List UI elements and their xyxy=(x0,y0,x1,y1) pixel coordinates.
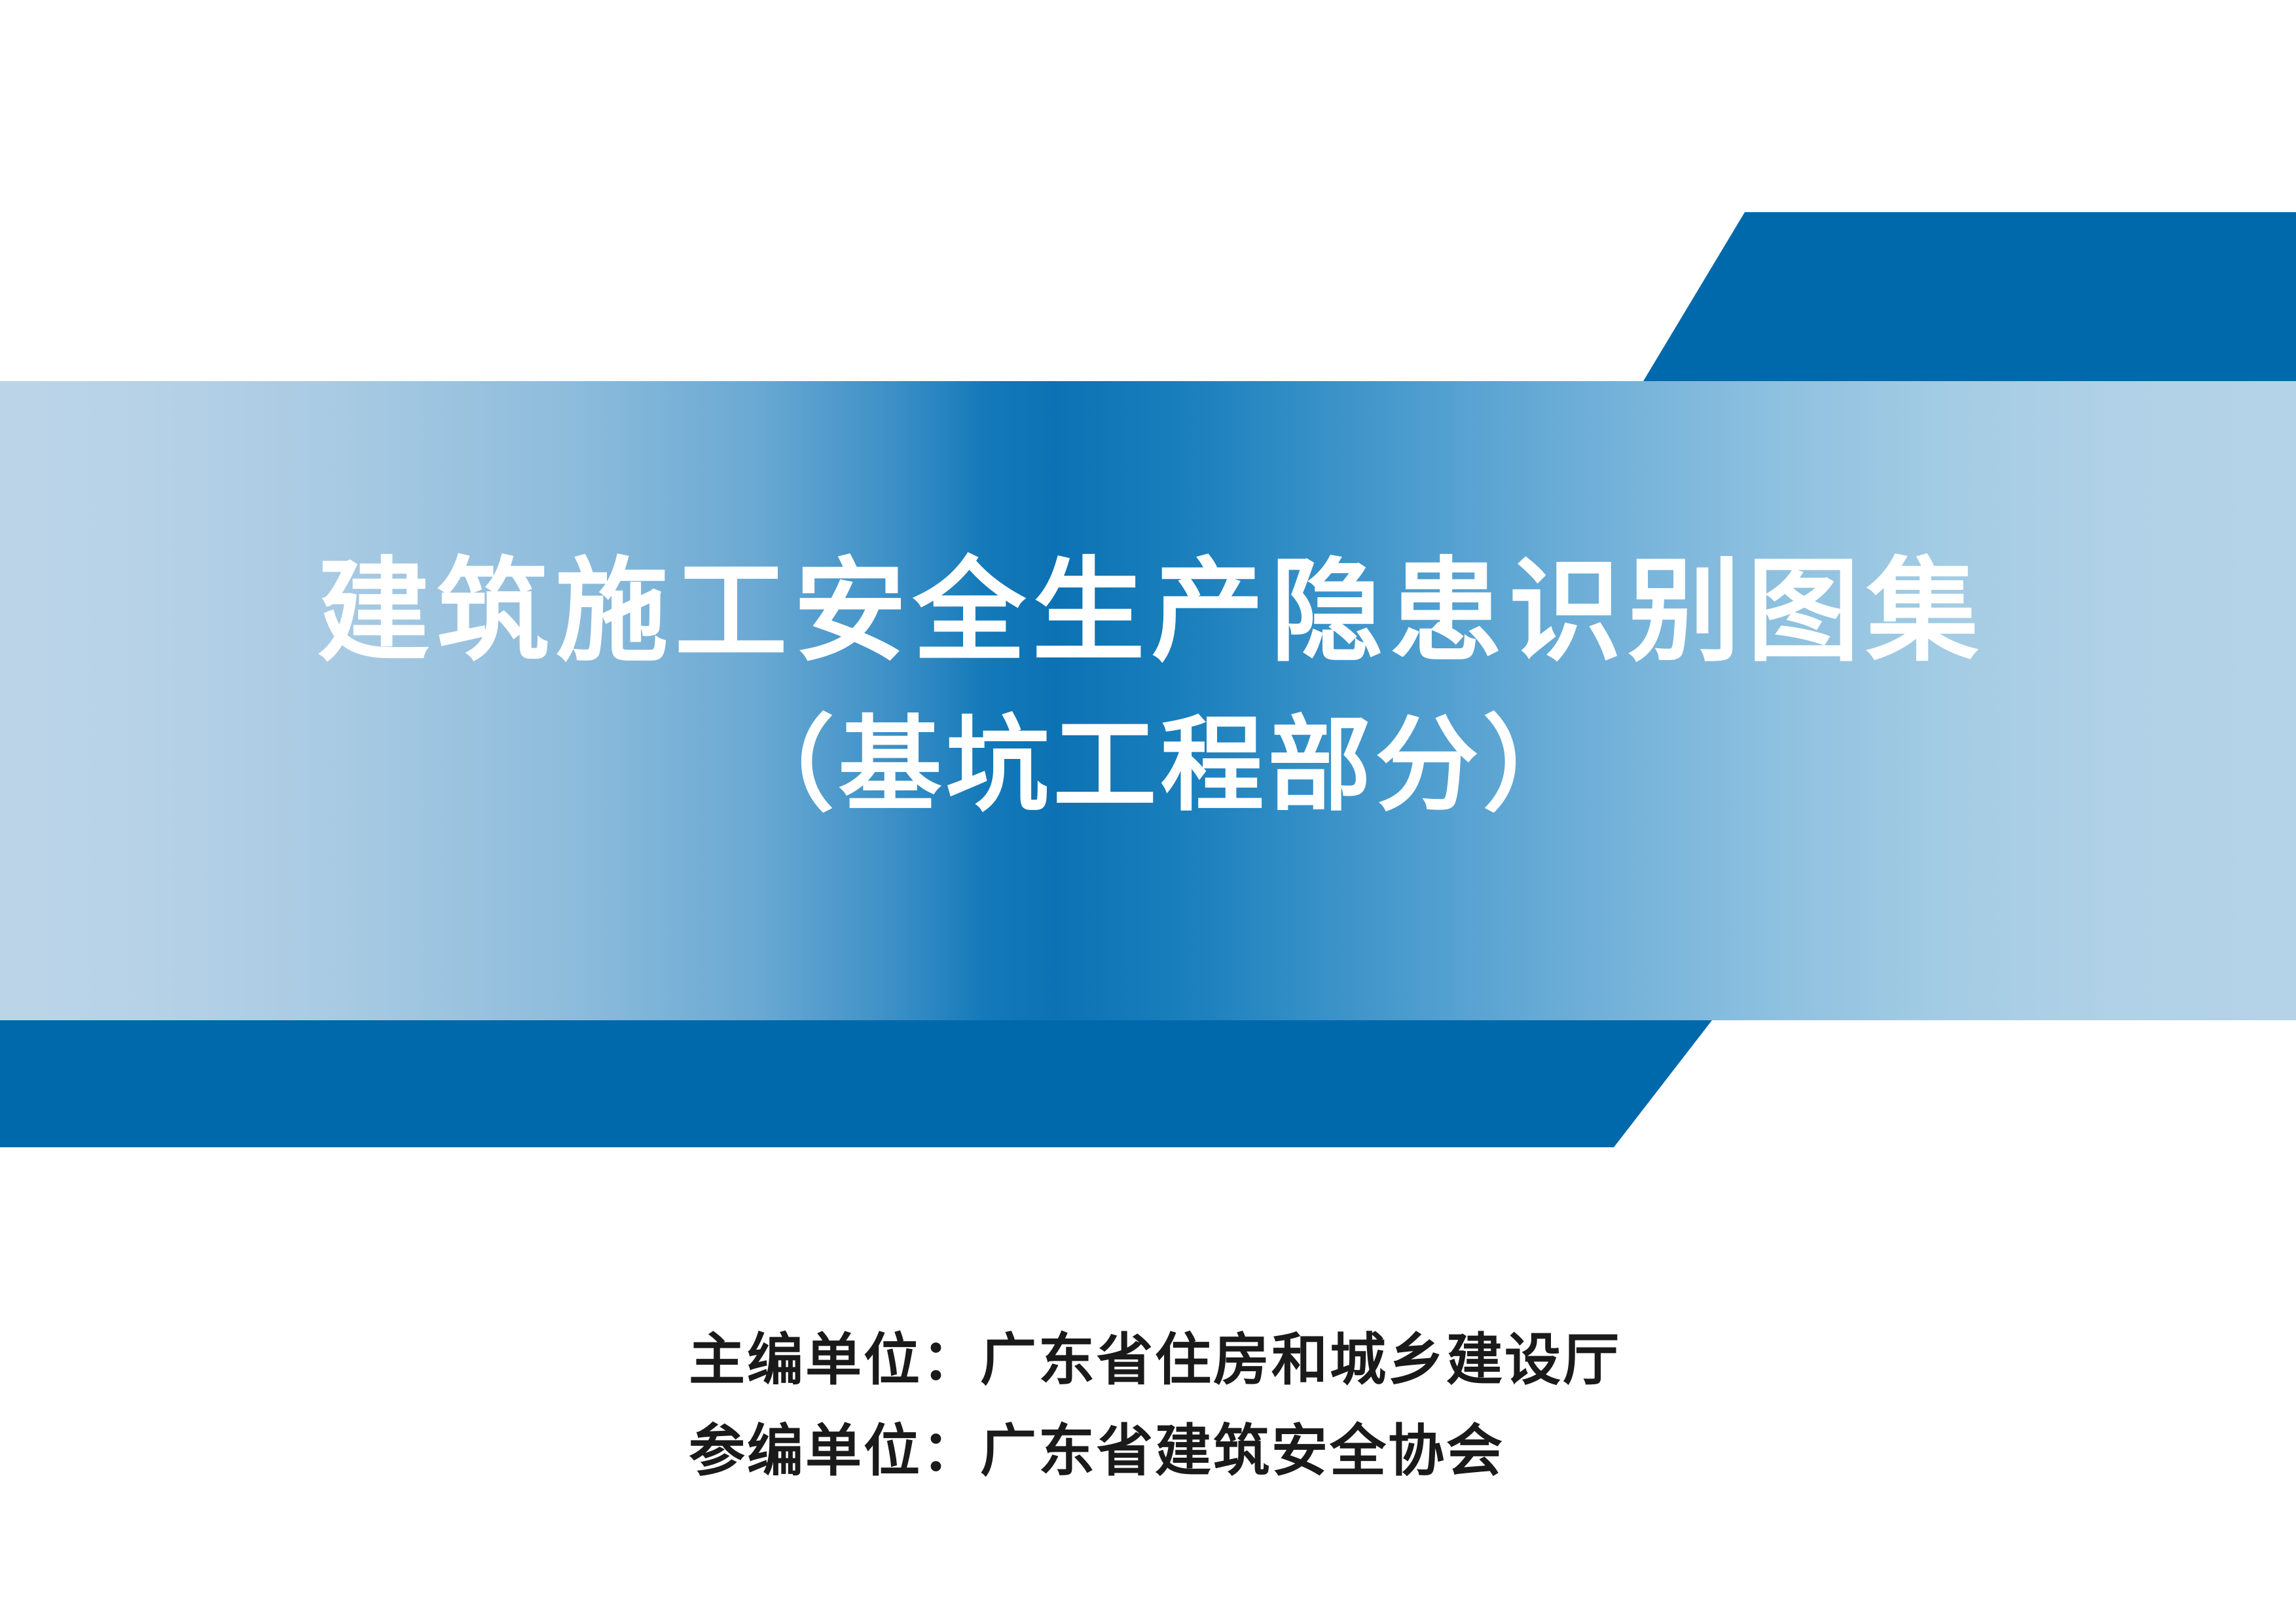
cover-page: 建筑施工安全生产隐患识别图集 （基坑工程部分） 主编单位：广东省住房和城乡建设厅… xyxy=(0,0,2296,1624)
gradient-banner-band xyxy=(0,381,2296,1020)
credit-line-contributing-editor: 参编单位：广东省建筑安全协会 xyxy=(689,1406,1867,1497)
credit-line-chief-editor: 主编单位：广东省住房和城乡建设厅 xyxy=(689,1315,1867,1406)
credits-block: 主编单位：广东省住房和城乡建设厅 参编单位：广东省建筑安全协会 xyxy=(689,1315,1867,1498)
top-right-accent-shape xyxy=(1624,212,2296,381)
bottom-left-accent-shape xyxy=(0,1020,1712,1147)
